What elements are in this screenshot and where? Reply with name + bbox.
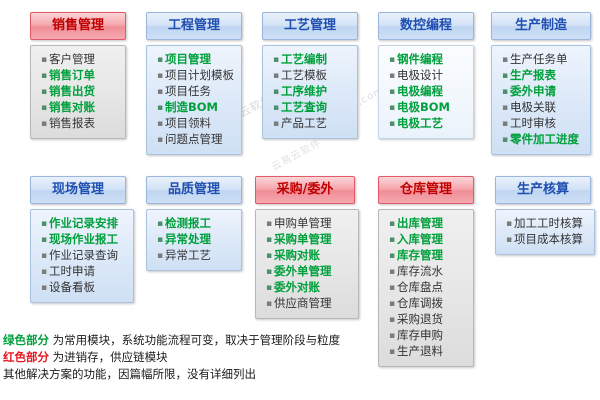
module-item[interactable]: ▪现场作业报工	[37, 232, 129, 248]
module-item[interactable]: ▪工艺模板	[269, 68, 353, 84]
module-item-label: 出库管理	[397, 218, 443, 230]
bullet-icon: ▪	[155, 104, 165, 113]
module-card-warehouse: 仓库管理▪出库管理▪入库管理▪库存管理▪库存流水▪仓库盘点▪仓库调拨▪采购退货▪…	[378, 176, 474, 367]
module-item-list-sales: ▪客户管理▪销售订单▪销售出货▪销售对账▪销售报表	[30, 45, 126, 139]
module-item[interactable]: ▪电极编程	[385, 84, 469, 100]
module-item[interactable]: ▪销售对账	[37, 100, 121, 116]
module-item-label: 销售订单	[49, 70, 95, 82]
module-card-engineering: 工程管理▪项目管理▪项目计划模板▪项目任务▪制造BOM▪项目领料▪问题点管理	[146, 12, 242, 155]
module-card-cnc: 数控编程▪钢件编程▪电极设计▪电极编程▪电极BOM▪电极工艺	[378, 12, 474, 139]
legend-green-tag: 绿色部分	[3, 333, 49, 347]
bullet-icon: ▪	[387, 220, 397, 229]
module-item-list-manufacturing: ▪生产任务单▪生产报表▪委外申请▪电极关联▪工时审核▪零件加工进度	[491, 45, 591, 155]
module-item-label: 客户管理	[49, 54, 95, 66]
module-item[interactable]: ▪生产退料	[385, 344, 469, 360]
module-header-sales[interactable]: 销售管理	[30, 12, 126, 40]
bullet-icon: ▪	[387, 120, 397, 129]
module-item[interactable]: ▪异常工艺	[153, 248, 237, 264]
module-item[interactable]: ▪电极设计	[385, 68, 469, 84]
module-item-label: 委外申请	[510, 86, 556, 98]
bullet-icon: ▪	[500, 56, 510, 65]
module-item-label: 库存管理	[397, 250, 443, 262]
module-item[interactable]: ▪供应商管理	[262, 296, 354, 312]
module-item[interactable]: ▪入库管理	[385, 232, 469, 248]
bullet-icon: ▪	[155, 72, 165, 81]
module-header-quality[interactable]: 品质管理	[146, 176, 242, 204]
module-card-sales: 销售管理▪客户管理▪销售订单▪销售出货▪销售对账▪销售报表	[30, 12, 126, 139]
bullet-icon: ▪	[387, 252, 397, 261]
bullet-icon: ▪	[271, 120, 281, 129]
module-item[interactable]: ▪库存申购	[385, 328, 469, 344]
module-item[interactable]: ▪委外对账	[262, 280, 354, 296]
module-item-label: 设备看板	[49, 282, 95, 294]
module-item[interactable]: ▪出库管理	[385, 216, 469, 232]
module-item-label: 工时审核	[510, 118, 556, 130]
bullet-icon: ▪	[264, 268, 274, 277]
module-item[interactable]: ▪库存管理	[385, 248, 469, 264]
bullet-icon: ▪	[39, 236, 49, 245]
module-item-label: 生产退料	[397, 346, 443, 358]
module-card-process: 工艺管理▪工艺编制▪工艺模板▪工序维护▪工艺查询▪产品工艺	[262, 12, 358, 139]
module-item-label: 委外单管理	[274, 266, 332, 278]
module-card-shopfloor: 现场管理▪作业记录安排▪现场作业报工▪作业记录查询▪工时申请▪设备看板	[30, 176, 134, 303]
module-item-label: 工序维护	[281, 86, 327, 98]
legend-row-note: 其他解决方案的功能，因篇幅所限，没有详细列出	[3, 366, 340, 383]
module-item-label: 工时申请	[49, 266, 95, 278]
module-item[interactable]: ▪项目任务	[153, 84, 237, 100]
module-item[interactable]: ▪作业记录查询	[37, 248, 129, 264]
bullet-icon: ▪	[264, 284, 274, 293]
module-item-label: 采购对账	[274, 250, 320, 262]
module-card-quality: 品质管理▪检测报工▪异常处理▪异常工艺	[146, 176, 242, 271]
module-item[interactable]: ▪仓库调拨	[385, 296, 469, 312]
legend-red-tag: 红色部分	[3, 350, 49, 364]
bullet-icon: ▪	[155, 136, 165, 145]
bullet-icon: ▪	[504, 220, 514, 229]
module-item[interactable]: ▪工序维护	[269, 84, 353, 100]
module-item-label: 工艺编制	[281, 54, 327, 66]
bullet-icon: ▪	[387, 56, 397, 65]
module-item-label: 工艺模板	[281, 70, 327, 82]
module-diagram: 云易云软件作 www.yiyun.com 云易云软件 销售管理▪客户管理▪销售订…	[0, 0, 600, 400]
module-item[interactable]: ▪客户管理	[37, 52, 121, 68]
module-item-label: 电极关联	[510, 102, 556, 114]
module-item-label: 加工工时核算	[514, 218, 583, 230]
bullet-icon: ▪	[155, 88, 165, 97]
bullet-icon: ▪	[387, 268, 397, 277]
bullet-icon: ▪	[264, 220, 274, 229]
bullet-icon: ▪	[387, 284, 397, 293]
module-item[interactable]: ▪钢件编程	[385, 52, 469, 68]
module-item-list-purchasing: ▪申购单管理▪采购单管理▪采购对账▪委外单管理▪委外对账▪供应商管理	[255, 209, 359, 319]
module-item[interactable]: ▪作业记录安排	[37, 216, 129, 232]
legend-row-red: 红色部分 为进销存，供应链模块	[3, 349, 340, 366]
bullet-icon: ▪	[155, 56, 165, 65]
module-card-purchasing: 采购/委外▪申购单管理▪采购单管理▪采购对账▪委外单管理▪委外对账▪供应商管理	[255, 176, 359, 319]
bullet-icon: ▪	[39, 104, 49, 113]
module-item[interactable]: ▪工时申请	[37, 264, 129, 280]
bullet-icon: ▪	[271, 56, 281, 65]
bullet-icon: ▪	[39, 220, 49, 229]
module-item-label: 作业记录查询	[49, 250, 118, 262]
bullet-icon: ▪	[387, 332, 397, 341]
module-item-list-cnc: ▪钢件编程▪电极设计▪电极编程▪电极BOM▪电极工艺	[378, 45, 474, 139]
bullet-icon: ▪	[39, 88, 49, 97]
module-item[interactable]: ▪工时审核	[498, 116, 586, 132]
module-item-label: 电极工艺	[397, 118, 443, 130]
module-item-label: 工艺查询	[281, 102, 327, 114]
bullet-icon: ▪	[504, 236, 514, 245]
module-item-list-costing: ▪加工工时核算▪项目成本核算	[495, 209, 595, 255]
module-item[interactable]: ▪销售报表	[37, 116, 121, 132]
legend-note-text: 其他解决方案的功能，因篇幅所限，没有详细列出	[3, 367, 256, 381]
module-item-label: 委外对账	[274, 282, 320, 294]
bullet-icon: ▪	[39, 72, 49, 81]
module-item[interactable]: ▪采购单管理	[262, 232, 354, 248]
legend-row-green: 绿色部分 为常用模块，系统功能流程可变，取决于管理阶段与粒度	[3, 332, 340, 349]
module-item[interactable]: ▪委外申请	[498, 84, 586, 100]
bullet-icon: ▪	[39, 268, 49, 277]
bullet-icon: ▪	[264, 252, 274, 261]
module-item-label: 销售对账	[49, 102, 95, 114]
module-item[interactable]: ▪检测报工	[153, 216, 237, 232]
module-item[interactable]: ▪生产任务单	[498, 52, 586, 68]
module-header-process[interactable]: 工艺管理	[262, 12, 358, 40]
module-header-purchasing[interactable]: 采购/委外	[255, 176, 355, 204]
module-item-label: 生产任务单	[510, 54, 568, 66]
module-item[interactable]: ▪制造BOM	[153, 100, 237, 116]
bullet-icon: ▪	[387, 300, 397, 309]
module-item-label: 电极编程	[397, 86, 443, 98]
module-item[interactable]: ▪工艺编制	[269, 52, 353, 68]
module-item-label: 库存流水	[397, 266, 443, 278]
module-card-manufacturing: 生产制造▪生产任务单▪生产报表▪委外申请▪电极关联▪工时审核▪零件加工进度	[491, 12, 591, 155]
module-item-label: 项目任务	[165, 86, 211, 98]
module-item[interactable]: ▪零件加工进度	[498, 132, 586, 148]
module-item[interactable]: ▪生产报表	[498, 68, 586, 84]
module-item-label: 采购单管理	[274, 234, 332, 246]
module-item-list-warehouse: ▪出库管理▪入库管理▪库存管理▪库存流水▪仓库盘点▪仓库调拨▪采购退货▪库存申购…	[378, 209, 474, 367]
module-item-label: 问题点管理	[165, 134, 223, 146]
module-item-label: 产品工艺	[281, 118, 327, 130]
module-item-label: 项目领料	[165, 118, 211, 130]
module-item-label: 钢件编程	[397, 54, 443, 66]
module-item[interactable]: ▪问题点管理	[153, 132, 237, 148]
watermark-text-tertiary: 云易云软件	[268, 134, 324, 173]
module-item-label: 供应商管理	[274, 298, 332, 310]
module-header-shopfloor[interactable]: 现场管理	[30, 176, 126, 204]
bullet-icon: ▪	[271, 104, 281, 113]
bullet-icon: ▪	[500, 88, 510, 97]
module-item-label: 异常处理	[165, 234, 211, 246]
legend-red-text: 为进销存，供应链模块	[53, 350, 168, 364]
module-item-label: 项目成本核算	[514, 234, 583, 246]
module-item-label: 采购退货	[397, 314, 443, 326]
module-header-costing[interactable]: 生产核算	[495, 176, 591, 204]
bullet-icon: ▪	[155, 220, 165, 229]
module-item[interactable]: ▪项目成本核算	[502, 232, 590, 248]
bullet-icon: ▪	[155, 236, 165, 245]
module-item[interactable]: ▪销售订单	[37, 68, 121, 84]
bullet-icon: ▪	[155, 252, 165, 261]
module-item-label: 销售出货	[49, 86, 95, 98]
bullet-icon: ▪	[264, 300, 274, 309]
module-item[interactable]: ▪采购退货	[385, 312, 469, 328]
module-item-label: 电极设计	[397, 70, 443, 82]
bullet-icon: ▪	[387, 104, 397, 113]
module-item-label: 仓库盘点	[397, 282, 443, 294]
bullet-icon: ▪	[271, 72, 281, 81]
module-item-label: 项目管理	[165, 54, 211, 66]
module-item-label: 检测报工	[165, 218, 211, 230]
bullet-icon: ▪	[39, 252, 49, 261]
module-item[interactable]: ▪产品工艺	[269, 116, 353, 132]
bullet-icon: ▪	[500, 120, 510, 129]
bullet-icon: ▪	[387, 348, 397, 357]
module-item-label: 入库管理	[397, 234, 443, 246]
module-item-label: 库存申购	[397, 330, 443, 342]
module-item-label: 项目计划模板	[165, 70, 234, 82]
module-item[interactable]: ▪申购单管理	[262, 216, 354, 232]
module-item[interactable]: ▪电极BOM	[385, 100, 469, 116]
module-item-label: 电极BOM	[397, 102, 450, 114]
module-item-list-engineering: ▪项目管理▪项目计划模板▪项目任务▪制造BOM▪项目领料▪问题点管理	[146, 45, 242, 155]
module-item[interactable]: ▪销售出货	[37, 84, 121, 100]
module-item-label: 零件加工进度	[510, 134, 579, 146]
module-item[interactable]: ▪项目管理	[153, 52, 237, 68]
module-card-costing: 生产核算▪加工工时核算▪项目成本核算	[495, 176, 595, 255]
module-item[interactable]: ▪工艺查询	[269, 100, 353, 116]
module-item[interactable]: ▪加工工时核算	[502, 216, 590, 232]
bullet-icon: ▪	[387, 316, 397, 325]
bullet-icon: ▪	[264, 236, 274, 245]
module-item[interactable]: ▪委外单管理	[262, 264, 354, 280]
module-item[interactable]: ▪项目计划模板	[153, 68, 237, 84]
module-item[interactable]: ▪设备看板	[37, 280, 129, 296]
module-item-label: 销售报表	[49, 118, 95, 130]
bullet-icon: ▪	[39, 120, 49, 129]
module-item-label: 仓库调拨	[397, 298, 443, 310]
legend-green-text: 为常用模块，系统功能流程可变，取决于管理阶段与粒度	[53, 333, 341, 347]
module-item-list-process: ▪工艺编制▪工艺模板▪工序维护▪工艺查询▪产品工艺	[262, 45, 358, 139]
bullet-icon: ▪	[39, 284, 49, 293]
module-item[interactable]: ▪电极工艺	[385, 116, 469, 132]
bullet-icon: ▪	[387, 72, 397, 81]
bullet-icon: ▪	[387, 236, 397, 245]
module-item-label: 作业记录安排	[49, 218, 118, 230]
bullet-icon: ▪	[500, 104, 510, 113]
bullet-icon: ▪	[155, 120, 165, 129]
module-item-list-shopfloor: ▪作业记录安排▪现场作业报工▪作业记录查询▪工时申请▪设备看板	[30, 209, 134, 303]
module-item-list-quality: ▪检测报工▪异常处理▪异常工艺	[146, 209, 242, 271]
bullet-icon: ▪	[387, 88, 397, 97]
module-item[interactable]: ▪仓库盘点	[385, 280, 469, 296]
bullet-icon: ▪	[500, 136, 510, 145]
module-item[interactable]: ▪异常处理	[153, 232, 237, 248]
legend: 绿色部分 为常用模块，系统功能流程可变，取决于管理阶段与粒度 红色部分 为进销存…	[3, 332, 340, 383]
module-item-label: 申购单管理	[274, 218, 332, 230]
bullet-icon: ▪	[500, 72, 510, 81]
module-header-cnc[interactable]: 数控编程	[378, 12, 474, 40]
module-item-label: 异常工艺	[165, 250, 211, 262]
module-header-engineering[interactable]: 工程管理	[146, 12, 242, 40]
module-item[interactable]: ▪采购对账	[262, 248, 354, 264]
module-item[interactable]: ▪库存流水	[385, 264, 469, 280]
module-item[interactable]: ▪项目领料	[153, 116, 237, 132]
bullet-icon: ▪	[271, 88, 281, 97]
bullet-icon: ▪	[39, 56, 49, 65]
module-item[interactable]: ▪电极关联	[498, 100, 586, 116]
module-item-label: 生产报表	[510, 70, 556, 82]
module-item-label: 现场作业报工	[49, 234, 118, 246]
module-header-warehouse[interactable]: 仓库管理	[378, 176, 474, 204]
module-header-manufacturing[interactable]: 生产制造	[491, 12, 591, 40]
module-item-label: 制造BOM	[165, 102, 218, 114]
